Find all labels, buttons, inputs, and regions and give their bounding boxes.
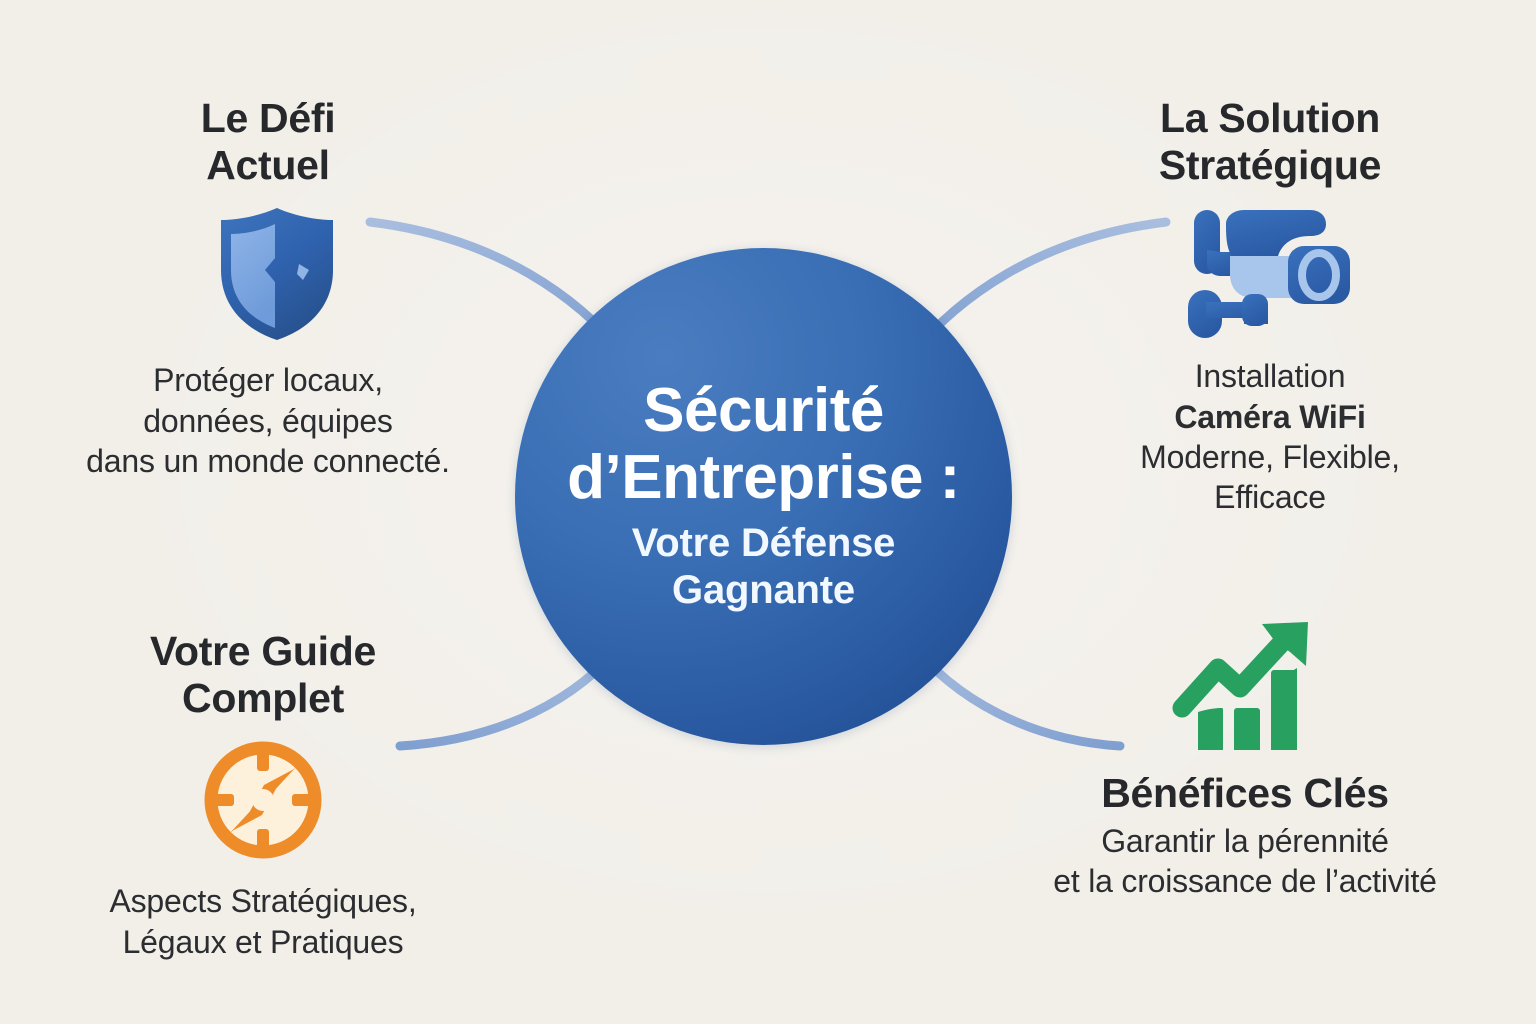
node-solution: La Solution Stratégique bbox=[1060, 95, 1480, 518]
node-solution-body-line-4: Efficace bbox=[1095, 477, 1445, 517]
compass-icon bbox=[198, 735, 328, 865]
node-challenge-body: Protéger locaux, données, équipes dans u… bbox=[53, 360, 483, 481]
node-guide-title: Votre Guide Complet bbox=[58, 628, 468, 721]
node-guide-title-line-1: Votre Guide bbox=[58, 628, 468, 675]
node-guide-title-line-2: Complet bbox=[58, 675, 468, 722]
hub-subtitle: Votre Défense Gagnante bbox=[632, 520, 895, 614]
node-guide-body-line-1: Aspects Stratégiques, bbox=[53, 881, 473, 921]
node-challenge: Le Défi Actuel bbox=[58, 95, 478, 481]
node-solution-body-line-2: Caméra WiFi bbox=[1095, 397, 1445, 437]
node-challenge-title: Le Défi Actuel bbox=[58, 95, 478, 188]
hub-subtitle-line-1: Votre Défense bbox=[632, 520, 895, 567]
shield-icon-wrap bbox=[213, 204, 341, 344]
growth-chart-icon-wrap bbox=[1170, 612, 1320, 762]
node-challenge-body-line-1: Protéger locaux, bbox=[53, 360, 483, 400]
node-challenge-body-line-2: données, équipes bbox=[53, 401, 483, 441]
security-camera-icon-wrap bbox=[1182, 202, 1358, 342]
node-benefits-body-line-1: Garantir la pérennité bbox=[1010, 821, 1480, 861]
node-solution-body-line-1: Installation bbox=[1095, 356, 1445, 396]
node-benefits-body: Garantir la pérennité et la croissance d… bbox=[1010, 821, 1480, 902]
node-challenge-title-line-1: Le Défi bbox=[58, 95, 478, 142]
compass-icon-wrap bbox=[198, 735, 328, 865]
node-solution-title-line-1: La Solution bbox=[1060, 95, 1480, 142]
security-camera-icon bbox=[1182, 202, 1358, 342]
node-guide: Votre Guide Complet Aspect bbox=[58, 628, 468, 962]
node-challenge-title-line-2: Actuel bbox=[58, 142, 478, 189]
node-benefits: Bénéfices Clés Garantir la pérennité et … bbox=[1010, 612, 1480, 901]
node-solution-title: La Solution Stratégique bbox=[1060, 95, 1480, 188]
infographic-canvas: Sécurité d’Entreprise : Votre Défense Ga… bbox=[0, 0, 1536, 1024]
node-guide-body-line-2: Légaux et Pratiques bbox=[53, 922, 473, 962]
hub-subtitle-line-2: Gagnante bbox=[632, 567, 895, 614]
node-benefits-title: Bénéfices Clés bbox=[1010, 770, 1480, 817]
node-solution-body-line-3: Moderne, Flexible, bbox=[1095, 437, 1445, 477]
node-guide-body: Aspects Stratégiques, Légaux et Pratique… bbox=[53, 881, 473, 962]
node-challenge-body-line-3: dans un monde connecté. bbox=[53, 441, 483, 481]
hub-title: Sécurité d’Entreprise : bbox=[549, 378, 979, 512]
node-benefits-body-line-2: et la croissance de l’activité bbox=[1010, 861, 1480, 901]
central-hub: Sécurité d’Entreprise : Votre Défense Ga… bbox=[515, 248, 1012, 745]
node-solution-title-line-2: Stratégique bbox=[1060, 142, 1480, 189]
shield-icon bbox=[213, 204, 341, 344]
growth-chart-icon bbox=[1170, 612, 1320, 762]
node-solution-body: Installation Caméra WiFi Moderne, Flexib… bbox=[1095, 356, 1445, 517]
